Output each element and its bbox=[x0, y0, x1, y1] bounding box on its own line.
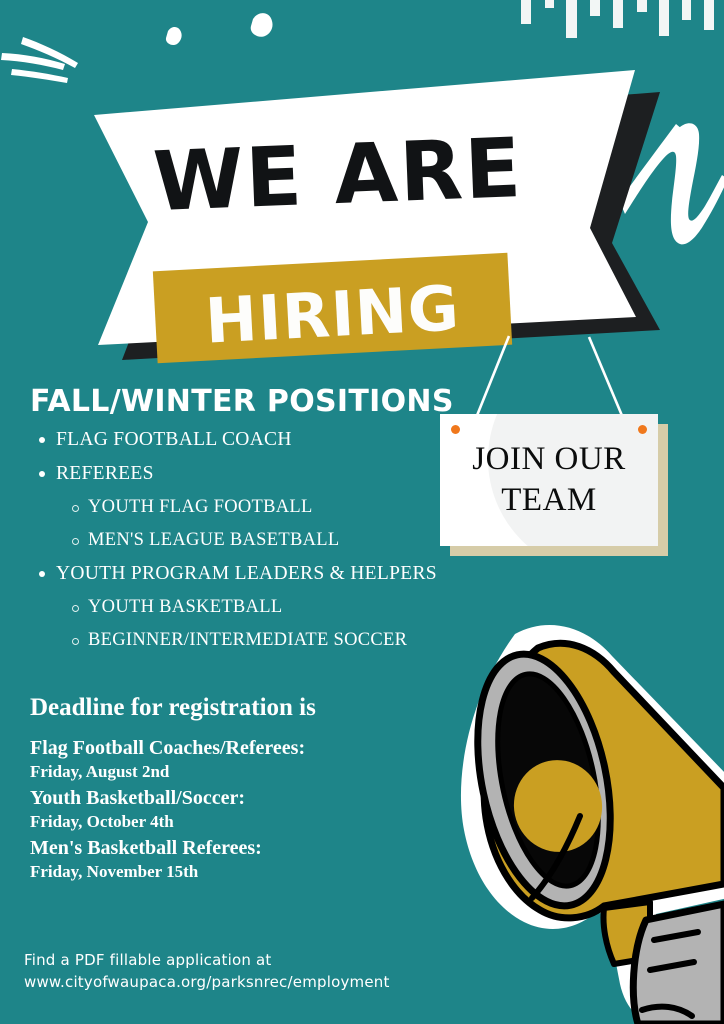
positions-list: FLAG FOOTBALL COACH REFEREES YOUTH FLAG … bbox=[30, 429, 430, 651]
deadline-date: Friday, October 4th bbox=[30, 811, 420, 833]
positions-title: FALL/WINTER POSITIONS bbox=[30, 384, 430, 419]
hiring-poster: WE ARE HIRING JOIN OUR TEAM FALL/WINTER … bbox=[0, 0, 724, 1024]
sign-line-2: TEAM bbox=[501, 480, 597, 521]
deadline-label: Men's Basketball Referees: bbox=[30, 836, 420, 861]
deadline-title: Deadline for registration is bbox=[30, 694, 420, 722]
position-subitem: YOUTH BASKETBALL bbox=[30, 597, 430, 618]
sign-line-1: JOIN OUR bbox=[472, 439, 625, 480]
join-our-team-sign: JOIN OUR TEAM bbox=[440, 414, 658, 546]
deadline-date: Friday, November 15th bbox=[30, 861, 420, 883]
deadline-row: Youth Basketball/Soccer: Friday, October… bbox=[30, 786, 420, 833]
position-subitem: BEGINNER/INTERMEDIATE SOCCER bbox=[30, 630, 430, 651]
deadline-row: Flag Football Coaches/Referees: Friday, … bbox=[30, 736, 420, 783]
banner: WE ARE HIRING bbox=[0, 0, 724, 400]
footer-section: Find a PDF fillable application at www.c… bbox=[24, 950, 504, 994]
sign-text: JOIN OUR TEAM bbox=[440, 414, 658, 546]
position-subitem: YOUTH FLAG FOOTBALL bbox=[30, 497, 430, 518]
deadline-section: Deadline for registration is Flag Footba… bbox=[30, 694, 420, 886]
deadline-label: Youth Basketball/Soccer: bbox=[30, 786, 420, 811]
position-item: REFEREES bbox=[30, 463, 430, 485]
deadline-date: Friday, August 2nd bbox=[30, 761, 420, 783]
deadline-row: Men's Basketball Referees: Friday, Novem… bbox=[30, 836, 420, 883]
deadline-label: Flag Football Coaches/Referees: bbox=[30, 736, 420, 761]
positions-section: FALL/WINTER POSITIONS FLAG FOOTBALL COAC… bbox=[30, 384, 430, 663]
position-item: FLAG FOOTBALL COACH bbox=[30, 429, 430, 451]
position-item: YOUTH PROGRAM LEADERS & HELPERS bbox=[30, 563, 430, 585]
headline-hiring: HIRING bbox=[153, 259, 512, 369]
position-subitem: MEN'S LEAGUE BASETBALL bbox=[30, 530, 430, 551]
headline-we-are: WE ARE bbox=[117, 130, 560, 222]
footer-line-1: Find a PDF fillable application at bbox=[24, 950, 504, 972]
footer-url[interactable]: www.cityofwaupaca.org/parksnrec/employme… bbox=[24, 972, 504, 994]
